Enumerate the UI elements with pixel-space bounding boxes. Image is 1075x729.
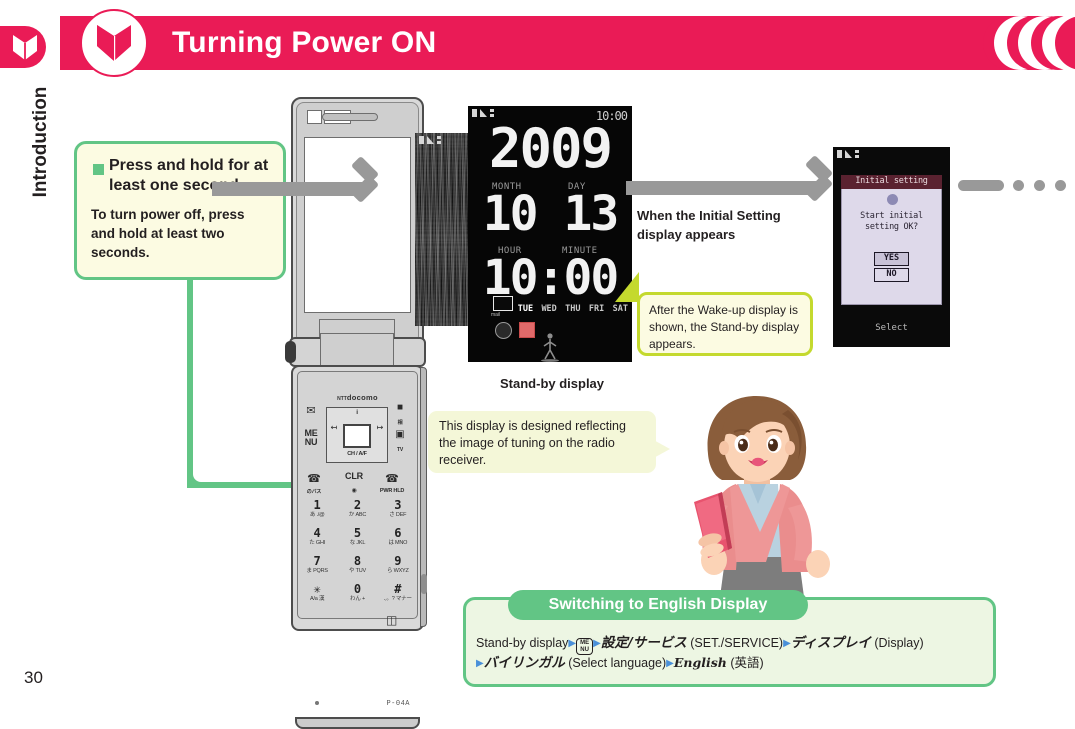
keypad-key-number: 9 [378, 555, 418, 567]
arrow-2-shaft [626, 181, 822, 195]
clear-key-label[interactable]: CLR [339, 471, 369, 481]
step-3-jp: バイリンガル [484, 655, 565, 671]
weekday-tue: TUE [518, 304, 533, 314]
brand-prefix: NTT [337, 396, 347, 402]
standby-display: 10:00 2009 MONTH DAY 10 13 HOUR MINUTE 1… [468, 106, 632, 362]
callout-wakeup: After the Wake-up display is shown, the … [637, 292, 813, 356]
woman-illustration [670, 392, 845, 597]
standby-date: 10 13 [468, 190, 632, 238]
keypad-key-5[interactable]: 5な JKL [337, 527, 377, 547]
keypad-key-sublabel: や TUV [337, 567, 377, 575]
keypad-row-3[interactable]: 7ま PQRS8や TUV9ら WXYZ [297, 555, 418, 575]
keypad-key-number: 2 [337, 499, 377, 511]
battery-icon [837, 150, 842, 158]
callout-radio-tail [650, 438, 670, 460]
arrow-1-shaft-b [286, 182, 368, 196]
dotted-arrow-dot-2 [1034, 180, 1045, 191]
step-4-jp: English [674, 655, 727, 670]
nav-right-icon[interactable]: ↦ [373, 423, 387, 432]
brand-name: docomo [347, 393, 378, 402]
camera-key-icon[interactable]: ▣ [391, 429, 409, 440]
standby-year: 2009 [468, 122, 632, 176]
standby-icon-2 [519, 322, 535, 338]
phone-sensor-icon [307, 110, 322, 124]
standby-figure-icon [536, 332, 564, 362]
battery-icon [472, 109, 477, 117]
keypad-key-number: 8 [337, 555, 377, 567]
keypad-row-1[interactable]: 1あ ./@2か ABC3さ DEF [297, 499, 418, 519]
step-1-jp: 設定/サービス [601, 635, 687, 651]
keypad-key-6[interactable]: 6は MNO [378, 527, 418, 547]
weekday-wed: WED [541, 304, 556, 314]
callout-radio-design: This display is designed reflecting the … [428, 411, 656, 473]
keypad-key-sublabel: わん + [337, 595, 377, 603]
weekday-fri: FRI [589, 304, 604, 314]
status-dots-icon [855, 150, 859, 158]
keypad-key-2[interactable]: 2か ABC [337, 499, 377, 519]
battery-icon [419, 136, 424, 144]
keypad-key-sublabel: は MNO [378, 539, 418, 547]
phone-model-label: P-04A [297, 700, 410, 708]
status-dots-icon [490, 109, 494, 117]
phone-base [295, 717, 420, 729]
keypad-row-4[interactable]: ✳A/a 漢0わん +#、。? マナー [297, 583, 418, 603]
call-key-icon[interactable]: ☎ [303, 472, 325, 485]
no-button[interactable]: NO [874, 268, 909, 282]
initset-status-icons [837, 150, 859, 158]
initset-title: Initial setting [841, 176, 942, 186]
step-3-en: (Select language) [568, 656, 666, 670]
step-arrow-icon: ▶ [476, 658, 484, 669]
standby-status-icons [472, 109, 494, 117]
initial-setting-display: Initial setting Start initial setting OK… [833, 147, 950, 347]
weekday-sat: SAT [613, 304, 628, 314]
keypad-key-sublabel: か ABC [337, 511, 377, 519]
keypad-key-0[interactable]: 0わん + [337, 583, 377, 603]
step-1-en: (SET./SERVICE) [690, 636, 783, 650]
step-2-jp: ディスプレイ [791, 635, 871, 651]
keypad-key-9[interactable]: 9ら WXYZ [378, 555, 418, 575]
status-dots-icon [437, 136, 441, 144]
standby-display-label: Stand-by display [500, 376, 604, 391]
step-arrow-icon: ▶ [666, 658, 674, 669]
standby-clock: 10:00 [468, 254, 632, 302]
bookmark-icon-small [12, 34, 38, 61]
keypad-key-sublabel: さ DEF [378, 511, 418, 519]
keypad-key-sublabel: ま PQRS [297, 567, 337, 575]
camera-key-label: TV [391, 447, 409, 453]
page-title: Turning Power ON [172, 22, 872, 64]
signal-icon [480, 109, 487, 117]
dotted-arrow-dot-3 [1055, 180, 1066, 191]
keypad-key-number: 7 [297, 555, 337, 567]
keypad-row-2[interactable]: 4た GHI5な JKL6は MNO [297, 527, 418, 547]
keypad-key-number: 3 [378, 499, 418, 511]
phone-speaker-icon [322, 113, 378, 121]
switching-steps-line-2: ▶バイリンガル (Select language)▶English (英語) [476, 654, 996, 673]
nav-bottom-label: CH / A/F [331, 451, 383, 457]
question-icon [887, 194, 898, 205]
keypad-key-3[interactable]: 3さ DEF [378, 499, 418, 519]
callout-press-body: To turn power off, press and hold at lea… [91, 205, 269, 262]
weekday-thu: THU [565, 304, 580, 314]
keypad-key-#[interactable]: #、。? マナー [378, 583, 418, 603]
keypad-key-number: 5 [337, 527, 377, 539]
connector-line-vertical [187, 278, 193, 488]
keypad-key-sublabel: A/a 漢 [297, 595, 337, 603]
power-key-icon[interactable]: ☎ [377, 472, 407, 485]
keypad-key-7[interactable]: 7ま PQRS [297, 555, 337, 575]
callout-press-and-hold: Press and hold for at least one second. … [74, 141, 286, 280]
initset-message: Start initial setting OK? [841, 211, 942, 233]
keypad-key-8[interactable]: 8や TUV [337, 555, 377, 575]
yes-button[interactable]: YES [874, 252, 909, 266]
step-4-en: (英語) [730, 656, 763, 670]
dotted-arrow-bar [958, 180, 1004, 191]
signal-icon [427, 136, 434, 144]
keypad-key-sublabel: ら WXYZ [378, 567, 418, 575]
arrow-2-head-b [805, 174, 833, 202]
callout-wakeup-tail [615, 272, 639, 302]
mail-icon [493, 296, 513, 311]
nav-left-icon[interactable]: ↤ [327, 423, 341, 432]
mail-icon-label: mail [491, 312, 500, 318]
keypad-key-number: 1 [297, 499, 337, 511]
keypad-key-✳[interactable]: ✳A/a 漢 [297, 583, 337, 603]
standby-weekday-row: MONTUEWEDTHUFRISAT [494, 304, 628, 314]
phone-side-knob [285, 341, 296, 363]
wakeup-status-bar [419, 136, 441, 144]
page-number: 30 [24, 668, 43, 688]
step-arrow-icon: ▶ [568, 638, 576, 649]
keypad-key-number: 6 [378, 527, 418, 539]
keypad-key-number: # [378, 583, 418, 595]
initset-softkey-select[interactable]: Select [833, 323, 950, 333]
power-key-label[interactable]: PWR HLD [375, 488, 409, 494]
bookmark-icon [96, 24, 132, 62]
dotted-arrow-dot-1 [1013, 180, 1024, 191]
keypad-key-sublabel: あ ./@ [297, 511, 337, 519]
keypad-key-number: ✳ [297, 583, 337, 595]
keypad-key-sublabel: 、。? マナー [378, 595, 418, 603]
switching-steps-line-1: Stand-by display▶MENU▶設定/サービス (SET./SERV… [476, 634, 996, 655]
mail-key-icon[interactable]: ✉ [303, 404, 319, 417]
memo-key-label: 相 [392, 419, 408, 426]
keypad-key-sublabel: な JKL [337, 539, 377, 547]
select-key[interactable] [343, 424, 371, 448]
step-2-en: (Display) [874, 636, 923, 650]
clear-key-sub: ◉ [339, 487, 369, 494]
fold-key-icon[interactable]: ◫ [386, 613, 397, 627]
keypad-key-1[interactable]: 1あ ./@ [297, 499, 337, 519]
menu-key-icon[interactable]: MENU [576, 638, 593, 655]
keypad-key-sublabel: た GHI [297, 539, 337, 547]
signal-icon [845, 150, 852, 158]
switch-start-label: Stand-by display [476, 636, 568, 650]
standby-icon-1 [495, 322, 512, 339]
section-label: Introduction [29, 77, 53, 207]
switching-box-title: Switching to English Display [508, 590, 808, 620]
menu-key-label[interactable]: MENU [299, 429, 323, 447]
i-mode-key-label: i [343, 409, 371, 416]
call-key-label: のバス [299, 488, 329, 495]
step-arrow-icon: ▶ [593, 638, 601, 649]
keypad-key-number: 0 [337, 583, 377, 595]
keypad-key-4[interactable]: 4た GHI [297, 527, 337, 547]
initial-setting-label: When the Initial Setting display appears [637, 206, 827, 244]
step-arrow-icon: ▶ [783, 638, 791, 649]
phone-hinge-plate [320, 333, 394, 369]
phone-brand-label: NTTdocomo [297, 393, 418, 402]
phone-side-button[interactable] [421, 574, 427, 594]
bullet-square-icon [93, 164, 104, 175]
keypad-key-number: 4 [297, 527, 337, 539]
memo-key-icon[interactable]: ■ [392, 402, 408, 413]
